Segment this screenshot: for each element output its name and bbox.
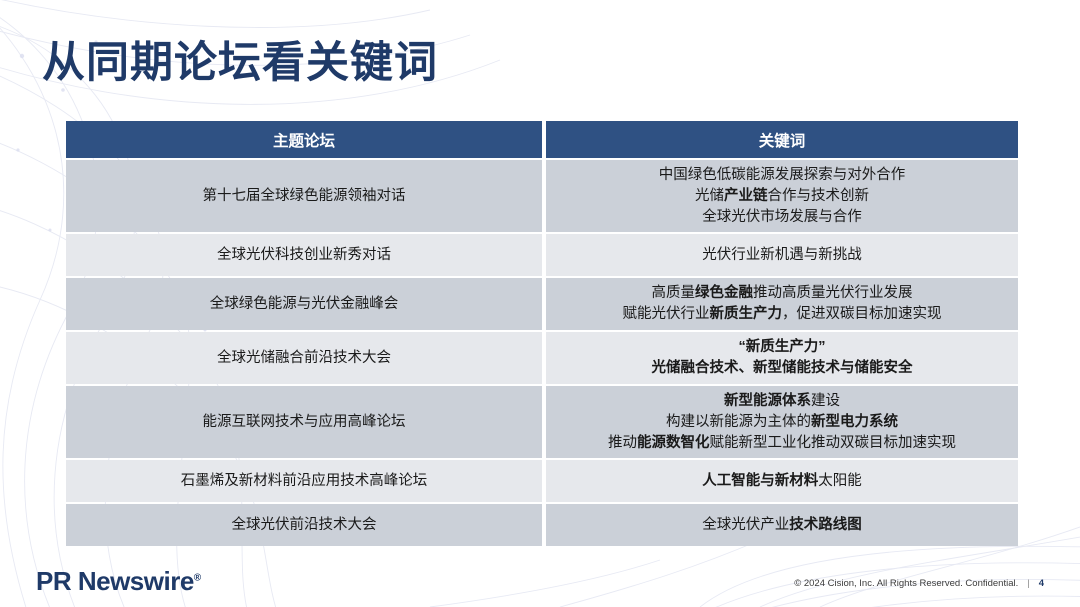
- slide-canvas: 从同期论坛看关键词 主题论坛 关键词 第十七届全球绿色能源领袖对话 中国绿色低碳…: [0, 0, 1080, 607]
- table-row[interactable]: 能源互联网技术与应用高峰论坛 新型能源体系建设 构建以新能源为主体的新型电力系统…: [66, 386, 1018, 458]
- cell-forum: 石墨烯及新材料前沿应用技术高峰论坛: [66, 460, 542, 502]
- registered-trademark-icon: ®: [194, 572, 201, 583]
- cell-keywords: 人工智能与新材料太阳能: [546, 460, 1018, 502]
- footer-separator: |: [1027, 578, 1029, 589]
- cell-forum: 全球光伏前沿技术大会: [66, 504, 542, 546]
- table-row[interactable]: 全球光伏科技创业新秀对话 光伏行业新机遇与新挑战: [66, 234, 1018, 276]
- table-row[interactable]: 第十七届全球绿色能源领袖对话 中国绿色低碳能源发展探索与对外合作 光储产业链合作…: [66, 160, 1018, 232]
- cell-forum: 第十七届全球绿色能源领袖对话: [66, 160, 542, 232]
- table-row[interactable]: 全球光伏前沿技术大会 全球光伏产业技术路线图: [66, 504, 1018, 546]
- cell-forum: 能源互联网技术与应用高峰论坛: [66, 386, 542, 458]
- cell-keywords: 全球光伏产业技术路线图: [546, 504, 1018, 546]
- logo-wordmark: PR Newswire: [36, 566, 194, 596]
- table-row[interactable]: 石墨烯及新材料前沿应用技术高峰论坛 人工智能与新材料太阳能: [66, 460, 1018, 502]
- cell-forum: 全球光伏科技创业新秀对话: [66, 234, 542, 276]
- cell-keywords: 新型能源体系建设 构建以新能源为主体的新型电力系统 推动能源数智化赋能新型工业化…: [546, 386, 1018, 458]
- column-header-keywords: 关键词: [546, 121, 1018, 158]
- pr-newswire-logo: PR Newswire®: [36, 566, 201, 597]
- page-number: 4: [1039, 578, 1044, 589]
- cell-keywords: 中国绿色低碳能源发展探索与对外合作 光储产业链合作与技术创新 全球光伏市场发展与…: [546, 160, 1018, 232]
- forum-keyword-table: 主题论坛 关键词 第十七届全球绿色能源领袖对话 中国绿色低碳能源发展探索与对外合…: [66, 121, 1018, 548]
- table-row[interactable]: 全球绿色能源与光伏金融峰会 高质量绿色金融推动高质量光伏行业发展 赋能光伏行业新…: [66, 278, 1018, 330]
- cell-forum: 全球绿色能源与光伏金融峰会: [66, 278, 542, 330]
- table-row[interactable]: 全球光储融合前沿技术大会 “新质生产力” 光储融合技术、新型储能技术与储能安全: [66, 332, 1018, 384]
- footer-copyright: © 2024 Cision, Inc. All Rights Reserved.…: [794, 578, 1044, 589]
- cell-keywords: 高质量绿色金融推动高质量光伏行业发展 赋能光伏行业新质生产力，促进双碳目标加速实…: [546, 278, 1018, 330]
- cell-keywords: 光伏行业新机遇与新挑战: [546, 234, 1018, 276]
- cell-keywords: “新质生产力” 光储融合技术、新型储能技术与储能安全: [546, 332, 1018, 384]
- column-header-forum: 主题论坛: [66, 121, 542, 158]
- copyright-text: © 2024 Cision, Inc. All Rights Reserved.…: [794, 578, 1018, 589]
- table-header-row: 主题论坛 关键词: [66, 121, 1018, 158]
- page-title: 从同期论坛看关键词: [42, 28, 438, 90]
- cell-forum: 全球光储融合前沿技术大会: [66, 332, 542, 384]
